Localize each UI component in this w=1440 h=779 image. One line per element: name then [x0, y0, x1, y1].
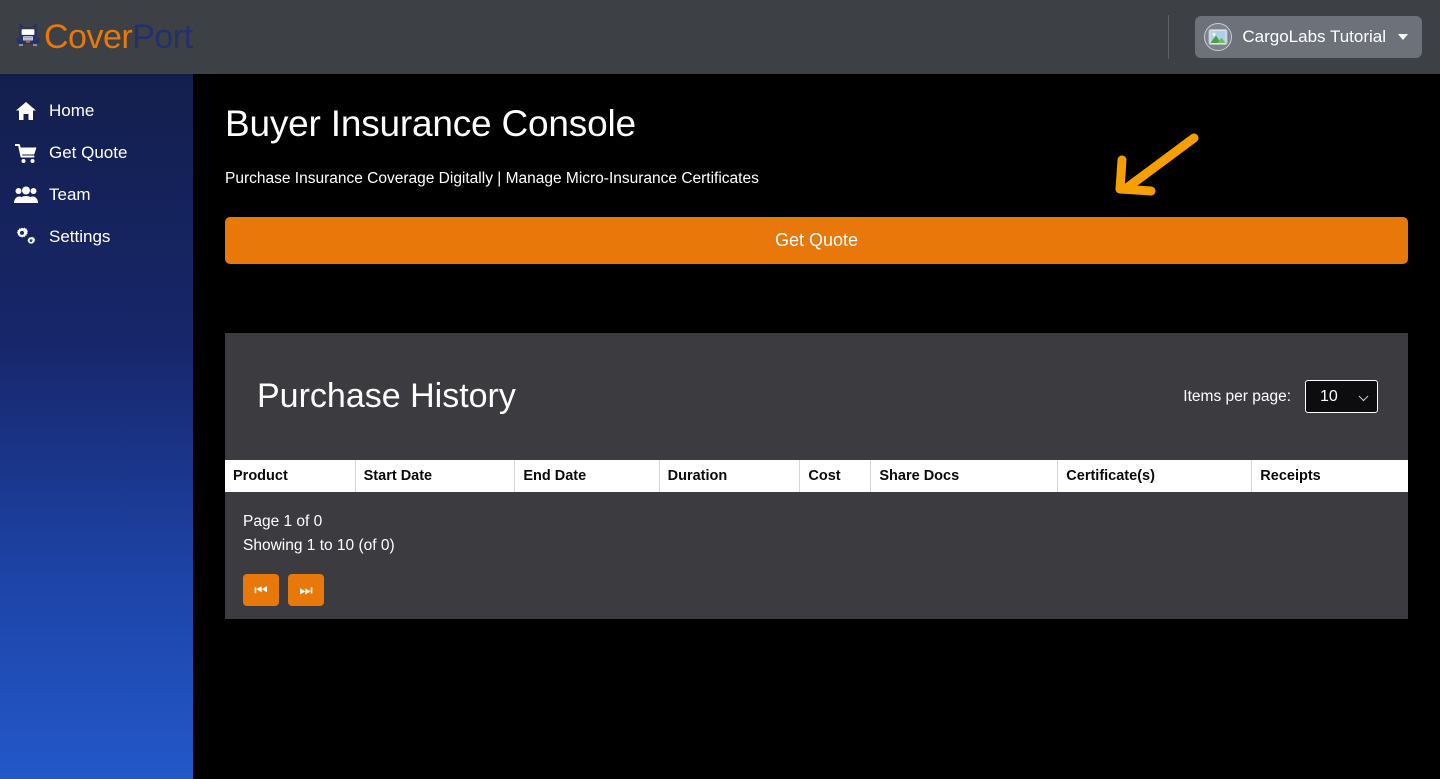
column-header-share-docs[interactable]: Share Docs	[871, 460, 1058, 492]
column-header-duration[interactable]: Duration	[659, 460, 800, 492]
items-per-page-select-wrap: 10 25 50 100	[1305, 380, 1378, 413]
brand-wordmark: CoverPort	[44, 20, 193, 54]
sidebar-item-label-home: Home	[49, 101, 94, 121]
sidebar-item-home[interactable]: Home	[0, 90, 193, 132]
sidebar-item-label-settings: Settings	[49, 227, 110, 247]
arrow-down-left-icon	[1106, 130, 1206, 200]
pagination-buttons: ⏮ ⏭	[243, 574, 1408, 606]
purchase-history-panel: Purchase History Items per page: 10 25 5…	[225, 333, 1408, 619]
column-header-end-date[interactable]: End Date	[515, 460, 659, 492]
get-quote-button[interactable]: Get Quote	[225, 217, 1408, 264]
column-header-product[interactable]: Product	[225, 460, 355, 492]
top-bar-right: CargoLabs Tutorial	[1168, 0, 1440, 74]
people-group-icon	[14, 183, 38, 207]
page-title: Buyer Insurance Console	[225, 103, 636, 145]
vertical-divider	[1168, 15, 1169, 59]
items-per-page-select[interactable]: 10 25 50 100	[1305, 380, 1378, 413]
sidebar: Home Get Quote	[0, 74, 193, 779]
pagination: Page 1 of 0 Showing 1 to 10 (of 0) ⏮ ⏭	[225, 492, 1408, 606]
user-menu-label: CargoLabs Tutorial	[1242, 27, 1386, 47]
items-per-page-label: Items per page:	[1183, 388, 1291, 406]
sidebar-item-settings[interactable]: Settings	[0, 216, 193, 258]
gears-icon	[14, 225, 38, 249]
sidebar-item-team[interactable]: Team	[0, 174, 193, 216]
page-subtitle: Purchase Insurance Coverage Digitally | …	[225, 170, 759, 188]
user-menu-button[interactable]: CargoLabs Tutorial	[1195, 16, 1422, 58]
home-icon	[14, 99, 38, 123]
panel-title: Purchase History	[257, 377, 516, 416]
truck-icon	[16, 25, 40, 49]
items-per-page-control: Items per page: 10 25 50 100	[1183, 380, 1378, 413]
shopping-cart-icon	[14, 141, 38, 165]
column-header-cost[interactable]: Cost	[800, 460, 871, 492]
brand-logo[interactable]: CoverPort	[0, 20, 193, 54]
column-header-receipts[interactable]: Receipts	[1252, 460, 1408, 492]
sidebar-item-label-team: Team	[49, 185, 91, 205]
skip-to-first-icon[interactable]: ⏮	[243, 574, 279, 606]
sidebar-item-get-quote[interactable]: Get Quote	[0, 132, 193, 174]
pagination-showing-text: Showing 1 to 10 (of 0)	[243, 534, 1408, 558]
column-header-start-date[interactable]: Start Date	[355, 460, 515, 492]
column-header-certificates[interactable]: Certificate(s)	[1058, 460, 1252, 492]
skip-to-last-icon[interactable]: ⏭	[288, 574, 324, 606]
table-header-row: Product Start Date End Date Duration Cos…	[225, 460, 1408, 492]
caret-down-icon	[1398, 34, 1408, 40]
top-bar: CoverPort CargoLabs Tutorial	[0, 0, 1440, 74]
app-root: CoverPort CargoLabs Tutorial	[0, 0, 1440, 779]
panel-header: Purchase History Items per page: 10 25 5…	[225, 333, 1408, 460]
broken-image-avatar-icon	[1204, 23, 1232, 51]
pagination-page-text: Page 1 of 0	[243, 510, 1408, 534]
purchase-history-table: Product Start Date End Date Duration Cos…	[225, 460, 1408, 492]
sidebar-item-label-get-quote: Get Quote	[49, 143, 127, 163]
main-content: Buyer Insurance Console Purchase Insuran…	[193, 74, 1440, 779]
brand-name-secondary: Port	[132, 18, 192, 56]
brand-name-primary: Cover	[44, 18, 132, 56]
